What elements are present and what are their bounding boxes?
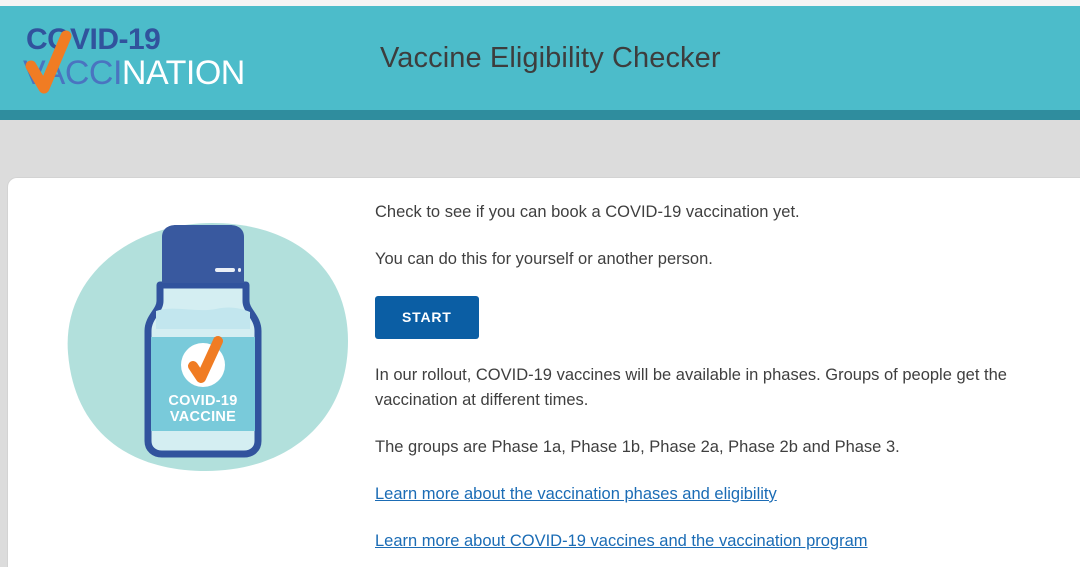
rollout-paragraph: In our rollout, COVID-19 vaccines will b…: [375, 363, 1035, 413]
phases-paragraph: The groups are Phase 1a, Phase 1b, Phase…: [375, 435, 1035, 460]
svg-text:COVID-19: COVID-19: [168, 393, 237, 409]
svg-text:VACCINE: VACCINE: [170, 409, 236, 425]
header-underline: [0, 110, 1080, 120]
covid-19-vaccination-logo: COVID-19 VACCINATION: [18, 18, 308, 98]
link-vaccination-phases-eligibility[interactable]: Learn more about the vaccination phases …: [375, 482, 777, 506]
page-title: Vaccine Eligibility Checker: [380, 42, 721, 75]
app-header: COVID-19 VACCINATION Vaccine Eligibility…: [0, 6, 1080, 110]
start-button[interactable]: START: [375, 296, 479, 339]
vaccine-vial-illustration: COVID-19 VACCINE: [56, 213, 356, 483]
intro-paragraph-2: You can do this for yourself or another …: [375, 247, 1035, 272]
intro-paragraph-1: Check to see if you can book a COVID-19 …: [375, 200, 1035, 225]
content-column: Check to see if you can book a COVID-19 …: [375, 200, 1055, 553]
link-covid-vaccines-program[interactable]: Learn more about COVID-19 vaccines and t…: [375, 529, 868, 553]
content-card: COVID-19 VACCINE Check to see if you can…: [8, 178, 1080, 567]
svg-text:COVID-19: COVID-19: [26, 23, 160, 56]
app-screen: COVID-19 VACCINATION Vaccine Eligibility…: [0, 0, 1080, 567]
